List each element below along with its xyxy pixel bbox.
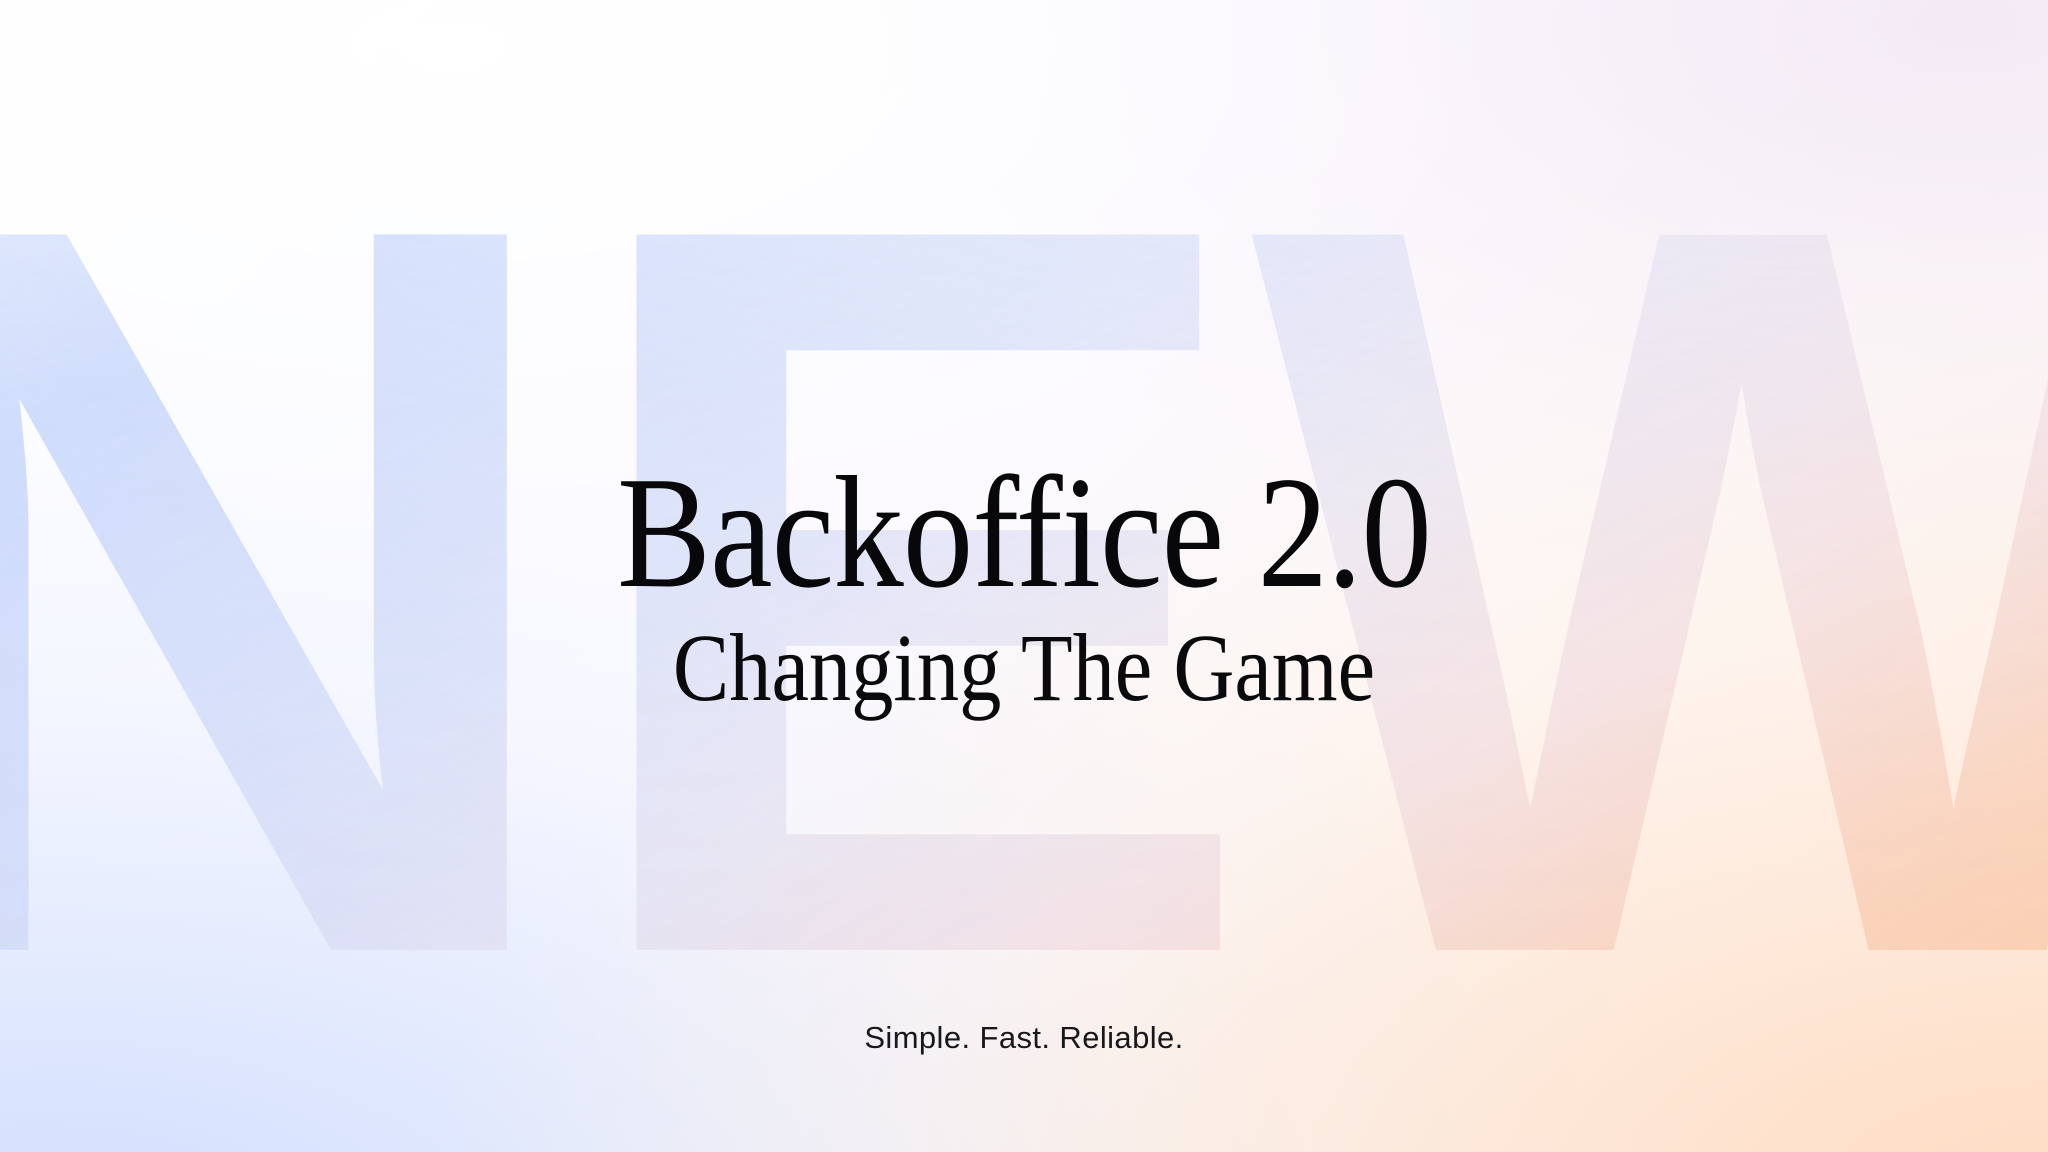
page-subtitle: Changing The Game (123, 620, 1925, 716)
tagline: Simple. Fast. Reliable. (0, 1020, 2048, 1056)
page-title: Backoffice 2.0 (123, 452, 1925, 612)
announcement-slide: NEW Backoffice 2.0 Changing The Game Sim… (0, 0, 2048, 1152)
headline-block: Backoffice 2.0 Changing The Game (0, 452, 2048, 716)
hero-content: Backoffice 2.0 Changing The Game Simple.… (0, 0, 2048, 1152)
